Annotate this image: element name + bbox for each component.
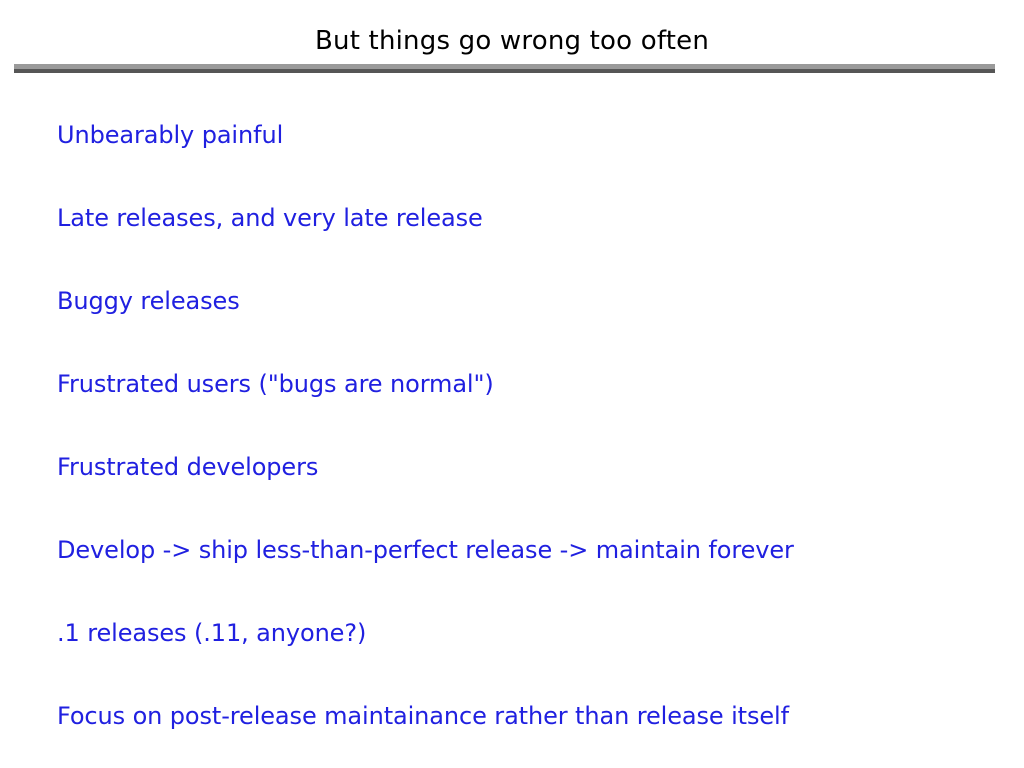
list-item: .1 releases (.11, anyone?) bbox=[57, 618, 987, 701]
page-title: But things go wrong too often bbox=[0, 26, 1024, 56]
title-separator-rule bbox=[14, 64, 995, 73]
list-item: Late releases, and very late release bbox=[57, 203, 987, 286]
list-item: Frustrated developers bbox=[57, 452, 987, 535]
slide-canvas: But things go wrong too often Unbearably… bbox=[0, 0, 1024, 768]
list-item: Focus on post-release maintainance rathe… bbox=[57, 701, 987, 768]
list-item: Frustrated users ("bugs are normal") bbox=[57, 369, 987, 452]
rule-shadow-band bbox=[14, 69, 995, 73]
list-item: Develop -> ship less-than-perfect releas… bbox=[57, 535, 987, 618]
list-item: Unbearably painful bbox=[57, 120, 987, 203]
list-item: Buggy releases bbox=[57, 286, 987, 369]
body-bullet-list: Unbearably painful Late releases, and ve… bbox=[57, 120, 987, 768]
